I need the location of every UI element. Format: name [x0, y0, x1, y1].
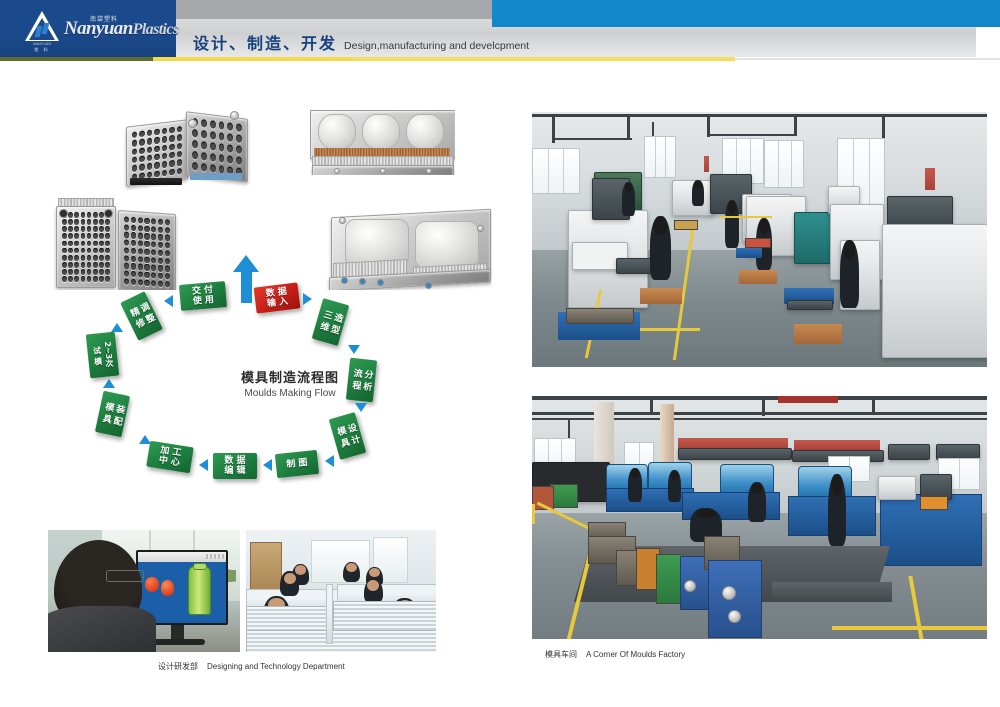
flow-chart-title-cn: 模具制造流程图: [225, 367, 355, 386]
flow-step-data-input-line2: 输 入: [267, 297, 289, 310]
flow-step-drawing[interactable]: 制 图: [275, 450, 319, 478]
photo-designer-workstation: [48, 530, 240, 652]
photo-mould-top: [122, 105, 254, 195]
flow-step-machining-centre[interactable]: 加 工 中 心: [146, 441, 194, 474]
moulds-making-flow-chart: 模具制造流程图 Moulds Making Flow 数 据 输 入 三 维 造…: [85, 283, 435, 498]
flow-arrow-3-icon: [355, 403, 367, 412]
flow-step-process-analysis-line2: 分 析: [361, 370, 373, 392]
flow-chart-title-en: Moulds Making Flow: [225, 388, 355, 399]
flow-step-delivery[interactable]: 交 付 使 用: [179, 281, 227, 311]
logo-badge-sub2: 塑 料: [22, 47, 62, 53]
photo-mould-assembly-workshop: [532, 396, 987, 639]
flow-step-machining-centre-line2: 中 心: [158, 455, 180, 468]
caption-mould-workshop-en: A Corner Of Moulds Factory: [586, 650, 685, 659]
header-rule: [0, 57, 1000, 61]
flow-arrow-10-icon: [164, 295, 173, 307]
flow-step-process-analysis[interactable]: 流 程 分 析: [346, 358, 377, 403]
flow-arrow-2-icon: [348, 345, 360, 354]
header-title: 设计、制造、开发 Design,manufacturing and develc…: [193, 30, 529, 54]
header-title-en: Design,manufacturing and develcpment: [344, 40, 529, 52]
flow-step-fine-tuning[interactable]: 精 修 调 整: [120, 291, 163, 341]
photo-design-office: [246, 530, 436, 652]
flow-step-data-editing-line1: 数 据: [224, 456, 245, 466]
flow-arrow-1-icon: [303, 293, 312, 305]
flow-chart-title: 模具制造流程图 Moulds Making Flow: [225, 367, 355, 399]
flow-arrow-7-icon: [139, 435, 151, 444]
flow-arrow-5-icon: [263, 459, 272, 471]
page-header: NANYUAN 塑 料 南袋塑料 NanyuanPlastics 设计、制造、开…: [0, 0, 1000, 62]
flow-arrow-6-icon: [199, 459, 208, 471]
header-gray-top-strip: [176, 0, 492, 19]
flow-step-3d-modelling[interactable]: 三 维 造 型: [312, 298, 350, 346]
company-logo: NANYUAN 塑 料 南袋塑料 NanyuanPlastics: [22, 7, 168, 53]
logo-wordmark-primary: Nanyuan: [64, 18, 133, 39]
photo-mould-three-cavity: [310, 110, 455, 175]
flow-step-mould-design[interactable]: 模 具 设 计: [329, 412, 367, 460]
caption-mould-workshop: 模具车间A Corner Of Moulds Factory: [545, 649, 685, 660]
flow-step-drawing-line1: 制 图: [286, 458, 308, 470]
photo-mould-multi-hole: [50, 198, 180, 290]
photo-mould-two-cavity: [325, 205, 492, 290]
flow-step-mould-assembly[interactable]: 模 具 装 配: [95, 391, 130, 438]
logo-triangle-icon: NANYUAN 塑 料: [22, 9, 64, 49]
flow-step-data-editing-line2: 编 辑: [224, 466, 245, 476]
flow-step-data-input[interactable]: 数 据 输 入: [254, 282, 301, 313]
caption-mould-workshop-cn: 模具车间: [545, 650, 577, 659]
header-title-cn: 设计、制造、开发: [193, 30, 337, 54]
caption-design-department: 设计研发部Designing and Technology Department: [158, 661, 345, 672]
flow-step-delivery-line2: 使 用: [192, 295, 214, 307]
flow-step-trial-mould-line2: 2~3次: [102, 341, 115, 368]
logo-wordmark-secondary: Plastics: [133, 21, 179, 38]
flow-arrow-9-icon: [111, 323, 123, 332]
logo-wordmark: NanyuanPlastics: [64, 18, 179, 40]
flow-step-trial-mould[interactable]: 试 模 2~3次: [86, 332, 119, 379]
flow-arrow-4-icon: [325, 455, 334, 467]
flow-step-data-editing[interactable]: 数 据 编 辑: [213, 453, 257, 479]
photo-cnc-workshop: [532, 112, 987, 367]
header-blue-bar: [492, 0, 1000, 27]
caption-design-department-cn: 设计研发部: [158, 662, 198, 671]
flow-arrow-8-icon: [103, 379, 115, 388]
caption-design-department-en: Designing and Technology Department: [207, 662, 345, 671]
